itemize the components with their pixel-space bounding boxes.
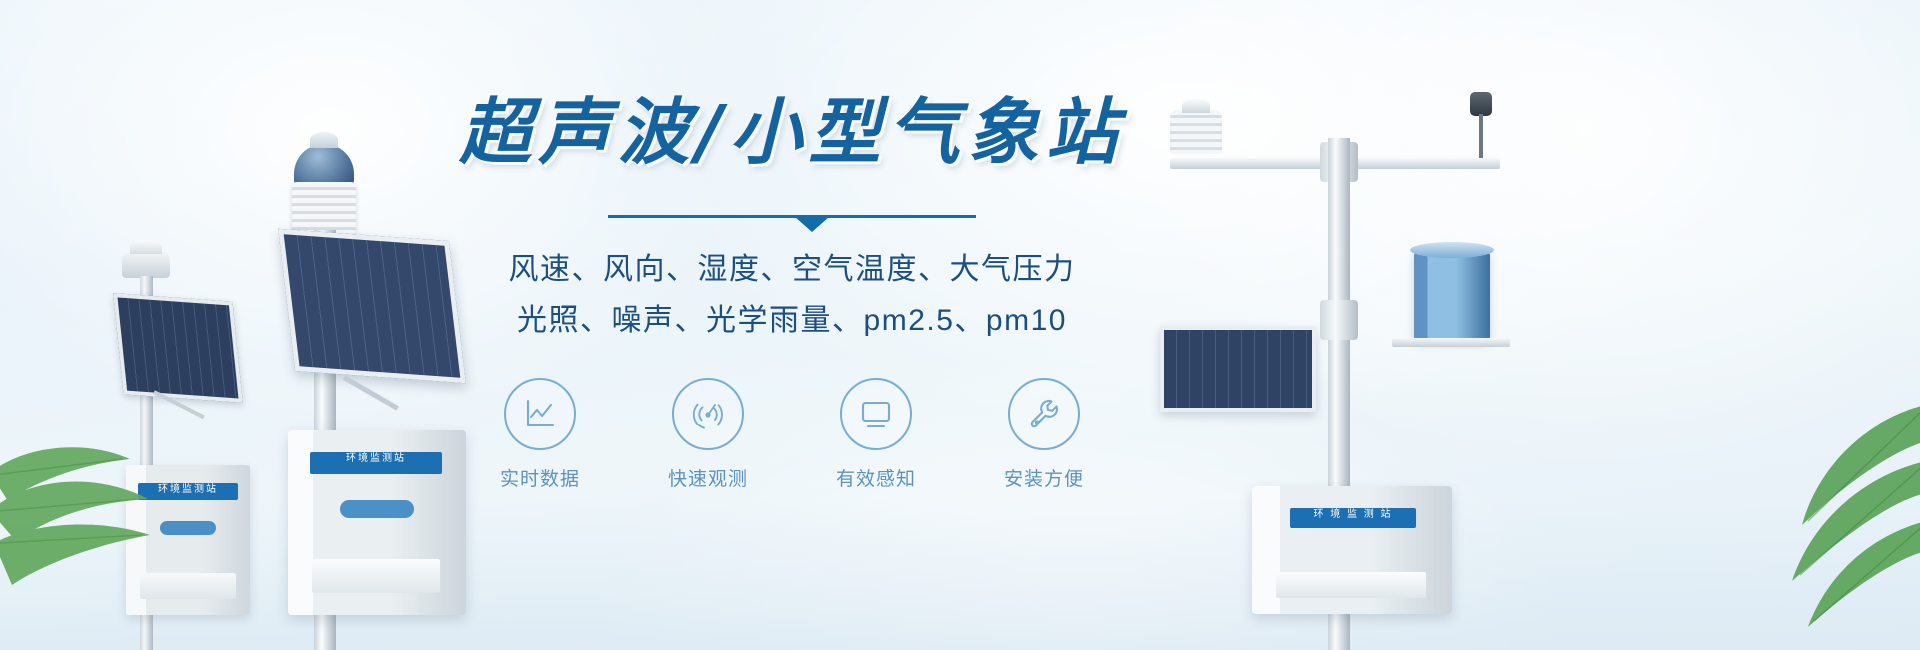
feature-label: 快速观测 [668, 464, 748, 491]
solar-panel [113, 293, 243, 403]
brand-logo-left [160, 521, 216, 535]
control-cabinet: 环境监测站 [126, 465, 250, 615]
equipment-shelf [1392, 338, 1510, 347]
brand-logo-mid [340, 500, 414, 518]
weather-station-right: 环 境 监 测 站 [1160, 50, 1520, 650]
cabinet-vent [312, 559, 440, 593]
subtitle-line-1: 风速、风向、湿度、空气温度、大气压力 [452, 245, 1132, 295]
cabinet-label-plate: 环境监测站 [138, 483, 238, 500]
radiation-dome-icon [294, 144, 354, 186]
banner-content: 超声波/小型气象站 风速、风向、湿度、空气温度、大气压力 光照、噪声、光学雨量、… [452, 96, 1132, 491]
ultrasonic-sensor-icon [1170, 110, 1222, 154]
feature-list: 实时数据 快速观测 [452, 378, 1132, 491]
weather-station-left: 环境监测站 [96, 180, 276, 650]
panel-brace [343, 375, 399, 410]
feature-item-easy-installation[interactable]: 安装方便 [974, 378, 1114, 491]
divider-rule [608, 215, 976, 218]
wrench-icon [1008, 378, 1080, 450]
vane-stem [1479, 114, 1483, 158]
solar-panel [278, 229, 466, 383]
vane-head [1470, 92, 1492, 116]
feature-label: 实时数据 [500, 464, 580, 491]
cabinet-label-plate: 环 境 监 测 站 [1290, 508, 1416, 528]
cabinet-label-plate: 环境监测站 [310, 452, 442, 474]
anemometer-sensor-icon [122, 252, 170, 278]
subtitle-line-2: 光照、噪声、光学雨量、pm2.5、pm10 [452, 296, 1132, 346]
feature-item-fast-observation[interactable]: 快速观测 [638, 378, 778, 491]
feature-item-effective-sensing[interactable]: 有效感知 [806, 378, 946, 491]
palm-leaf-right [1696, 375, 1920, 640]
banner-headline: 超声波/小型气象站 [452, 96, 1132, 169]
monitor-icon [840, 378, 912, 450]
feature-item-realtime-data[interactable]: 实时数据 [470, 378, 610, 491]
feature-label: 安装方便 [1004, 464, 1084, 491]
feature-label: 有效感知 [836, 464, 916, 491]
rain-gauge [1414, 250, 1490, 342]
right-station-label: 环 境 监 测 站 [1290, 510, 1416, 520]
chevron-down-icon [795, 217, 829, 232]
radar-scan-icon [672, 378, 744, 450]
cabinet-vent [1276, 572, 1426, 598]
mast-collar-mid [1320, 300, 1358, 340]
headline-divider [608, 215, 976, 227]
weather-station-banner: 环境监测站 环境监测站 [0, 0, 1920, 650]
left-station-label: 环境监测站 [138, 485, 238, 495]
line-chart-icon [504, 378, 576, 450]
radiation-shield-sensor [292, 182, 356, 234]
solar-panel [1160, 326, 1316, 412]
banner-subtitle: 风速、风向、湿度、空气温度、大气压力 光照、噪声、光学雨量、pm2.5、pm10 [452, 245, 1132, 346]
mid-station-label: 环境监测站 [310, 454, 442, 464]
control-cabinet: 环境监测站 [288, 430, 466, 615]
cabinet-vent [140, 573, 236, 599]
control-cabinet: 环 境 监 测 站 [1252, 486, 1452, 614]
wind-vane-icon [1464, 92, 1498, 156]
